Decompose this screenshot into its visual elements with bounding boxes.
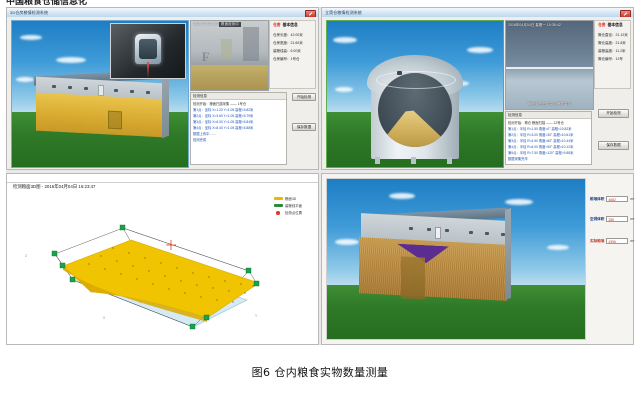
grain-body (36, 93, 164, 138)
info-card-header: 仓房基本信息 (598, 23, 623, 28)
silo-leg (411, 157, 416, 164)
log-line: 数据上传中…… (193, 131, 216, 136)
grain-pile (378, 109, 452, 147)
measure-value-field[interactable]: 286 (606, 216, 628, 222)
warehouse-3d-scene[interactable] (11, 20, 189, 168)
info-header-red: 仓房 (273, 23, 281, 27)
warehouse-info-card: 仓房基本信息 仓房长度：42.00米 仓房宽度：21.60米 装粮线高：6.00… (269, 20, 316, 89)
start-detection-button[interactable]: 开始检测 (292, 93, 316, 101)
log-line: 检测开始：粮面扫描采集 —— 1号仓 (193, 101, 246, 106)
log-header: 检测信息 (506, 112, 591, 119)
vent-icon (52, 85, 56, 88)
measure-label: 粮堆体积 (590, 197, 604, 202)
divider (7, 182, 318, 183)
window-title: 3D仓房粮情检测系统 (10, 8, 48, 17)
info-row: 筒仓高度：21.8米 (598, 41, 626, 46)
cloud (505, 199, 533, 205)
info-row: 仓房长度：42.00米 (273, 33, 303, 38)
warehouse-end-wall (162, 70, 169, 139)
silo-model (367, 55, 463, 159)
clipped-heading: 中国粮食仓储信息化 (6, 0, 186, 6)
vent-icon (427, 228, 431, 231)
silo-info-card: 仓房基本信息 筒仓直径：21.12米 筒仓高度：21.8米 装粮高度：11.2米… (594, 20, 631, 89)
cloud (20, 35, 42, 40)
log-line: 第5点：半径 R=7.50 角度=120° 高程=9.88米 (508, 150, 573, 155)
axis-label-z: Z (25, 254, 27, 258)
log-line: 第2点：坐标 X=3.60 Y=1.05 高程=5.79米 (193, 113, 253, 118)
vent-icon (84, 87, 88, 90)
cloud (389, 193, 415, 199)
vent-icon (146, 91, 150, 94)
info-header-black: 基本信息 (608, 23, 623, 27)
log-line: 第3点：半径 R=4.50 角度=60° 高程=10.44米 (508, 138, 573, 143)
photo-timestamp: 2016年04月04日 星期一 15:38:42 (508, 22, 561, 27)
vent-icon (469, 231, 473, 234)
log-line: 数据采集完毕 (508, 156, 528, 161)
silo-leg (375, 157, 380, 164)
info-header-red: 仓房 (598, 23, 606, 27)
measure-unit: m³ (630, 217, 634, 221)
photo-grain-floor (191, 65, 268, 90)
vent-icon (130, 90, 134, 93)
panel-warehouse-detection: 3D仓房粮情检测系统 (6, 7, 319, 170)
laser-beam-icon (147, 62, 149, 78)
window-body: 粮堆体积 4682 m³ 空洞体积 286 m³ 实际粮堆 4396 m³ (322, 174, 633, 344)
log-line: 第1点：坐标 X=1.20 Y=1.05 高程=5.82米 (193, 107, 253, 112)
vent-icon (409, 227, 413, 230)
measure-value-field[interactable]: 4682 (606, 196, 628, 202)
measure-row-actual: 实际粮堆 4396 m³ (590, 238, 634, 244)
info-row: 筒仓直径：21.12米 (598, 33, 628, 38)
scanner-device (435, 227, 441, 239)
info-row: 筒仓编号：12号 (598, 57, 623, 62)
vent-icon (445, 229, 449, 232)
log-line: 第4点：坐标 X=8.40 Y=1.05 高程=5.88米 (193, 125, 253, 130)
cloud (335, 87, 353, 92)
photo-overlay-glyph: F (202, 49, 210, 65)
axis-label-x: X (103, 316, 105, 320)
vent-icon (68, 86, 72, 89)
cloud (335, 239, 359, 245)
silo-leg (447, 157, 452, 164)
figure-caption: 图6 仓内粮食实物数量测量 (0, 364, 640, 380)
chart-window: 检测粮面3D图 - 2016年04月04日 16:23:47 粮面3D 装粮线平… (7, 174, 318, 344)
log-line: 检测完成 (193, 137, 206, 142)
vent-icon (114, 89, 118, 92)
chart-title: 检测粮面3D图 - 2016年04月04日 16:23:47 (13, 184, 96, 190)
photo-wall (506, 21, 593, 69)
log-line: 第4点：半径 R=6.00 角度=90° 高程=10.12米 (508, 144, 573, 149)
panel-silo-detection: 立筒仓粮情检测系统 (321, 7, 634, 170)
chart-plot-area[interactable]: 粮面3D 装粮线平面 检测点位置 (11, 192, 314, 338)
silo-rim (376, 71, 456, 89)
cloud (16, 77, 34, 82)
cloud (56, 57, 86, 63)
window-body: 2016年04月04日 星期一 15:38:42 筒仓激光扫描中心粮堆监控 仓房… (322, 17, 633, 169)
scanner-device-icon (135, 34, 161, 64)
cloud (467, 47, 493, 53)
panel-void-detection-result: 粮堆体积 4682 m³ 空洞体积 286 m³ 实际粮堆 4396 m³ (321, 173, 634, 345)
log-line: 第2点：半径 R=3.00 角度=30° 高程=10.61米 (508, 132, 573, 137)
measure-unit: m³ (630, 197, 634, 201)
log-header: 检测信息 (191, 93, 286, 100)
log-line: 第1点：半径 R=1.50 角度=0° 高程=10.82米 (508, 126, 572, 131)
window-title: 立筒仓粮情检测系统 (325, 8, 362, 17)
photo-object (221, 39, 232, 59)
detection-log-box[interactable]: 检测信息 检测开始：筒仓 粮面扫描 —— 12号仓 第1点：半径 R=1.50 … (505, 111, 592, 165)
window-body: 2016-04-04 16:23:47 粮面检测中 F 仓房基本信息 仓房长度：… (7, 17, 318, 169)
measure-unit: m³ (630, 239, 634, 243)
measure-row-volume: 粮堆体积 4682 m³ (590, 196, 634, 202)
surface-3d-plot (11, 196, 311, 336)
info-row: 仓房宽度：21.60米 (273, 41, 303, 46)
scanner-device (98, 85, 104, 96)
cloud (333, 37, 357, 43)
measure-value-field[interactable]: 4396 (606, 238, 628, 244)
panel-grain-surface-3d-chart: 检测粮面3D图 - 2016年04月04日 16:23:47 粮面3D 装粮线平… (6, 173, 319, 345)
silo-hatch-icon (397, 71, 402, 75)
log-line: 第3点：坐标 X=6.00 Y=1.05 高程=5.84米 (193, 119, 253, 124)
info-header-black: 基本信息 (283, 23, 298, 27)
camera-photo-view[interactable]: 2016年04月04日 星期一 15:38:42 筒仓激光扫描中心粮堆监控 (505, 20, 594, 110)
photo-door (243, 27, 259, 61)
photo-watermark: 筒仓激光扫描中心粮堆监控 (506, 102, 593, 107)
cloud (547, 245, 569, 250)
warehouse-void-3d-scene[interactable] (326, 178, 586, 340)
save-data-button[interactable]: 保存数据 (292, 123, 316, 131)
log-line: 检测开始：筒仓 粮面扫描 —— 12号仓 (508, 120, 564, 125)
measure-label: 空洞体积 (590, 217, 604, 222)
laser-line (506, 67, 593, 69)
axis-label-y: Y (255, 314, 257, 318)
start-detection-button[interactable]: 开始检测 (598, 109, 629, 118)
info-row: 仓房编号：1号仓 (273, 57, 299, 62)
silo-3d-scene[interactable] (326, 20, 504, 168)
device-inset-view[interactable] (110, 23, 186, 79)
photo-badge: 粮面检测中 (219, 22, 241, 27)
inspection-patch (108, 111, 122, 130)
warehouse-end-wall (505, 208, 511, 300)
document-page: 中国粮食仓储信息化 3D仓房粮情检测系统 (0, 0, 640, 400)
void-shaft (401, 256, 425, 299)
vent-icon (485, 232, 489, 235)
figure-image: 3D仓房粮情检测系统 (6, 7, 634, 345)
save-data-button[interactable]: 保存数据 (598, 141, 629, 150)
detection-log-box[interactable]: 检测信息 检测开始：粮面扫描采集 —— 1号仓 第1点：坐标 X=1.20 Y=… (190, 92, 287, 165)
measure-row-void: 空洞体积 286 m³ (590, 216, 634, 222)
info-card-header: 仓房基本信息 (273, 23, 298, 28)
measure-label: 实际粮堆 (590, 239, 604, 244)
info-row: 装粮线高：6.00米 (273, 49, 301, 54)
camera-photo-view[interactable]: 2016-04-04 16:23:47 粮面检测中 F (190, 20, 269, 91)
info-row: 装粮高度：11.2米 (598, 49, 626, 54)
